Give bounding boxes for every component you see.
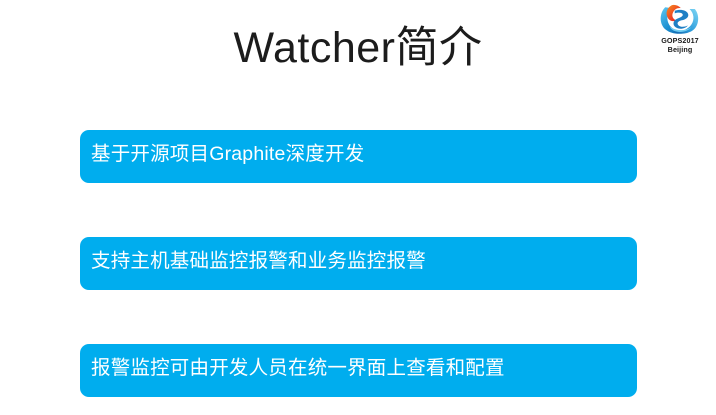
bullet-text-3: 报警监控可由开发人员在统一界面上查看和配置 <box>91 356 505 380</box>
bullet-text-1: 基于开源项目Graphite深度开发 <box>91 142 364 166</box>
bullet-bar-3: 报警监控可由开发人员在统一界面上查看和配置 <box>80 344 637 397</box>
presentation-slide: GOPS2017 Beijing Watcher简介 基于开源项目Graphit… <box>0 0 716 415</box>
page-title: Watcher简介 <box>0 22 716 74</box>
bullet-text-2: 支持主机基础监控报警和业务监控报警 <box>91 249 426 273</box>
bullet-list: 基于开源项目Graphite深度开发 支持主机基础监控报警和业务监控报警 报警监… <box>80 130 637 397</box>
bullet-bar-2: 支持主机基础监控报警和业务监控报警 <box>80 237 637 290</box>
bullet-bar-1: 基于开源项目Graphite深度开发 <box>80 130 637 183</box>
